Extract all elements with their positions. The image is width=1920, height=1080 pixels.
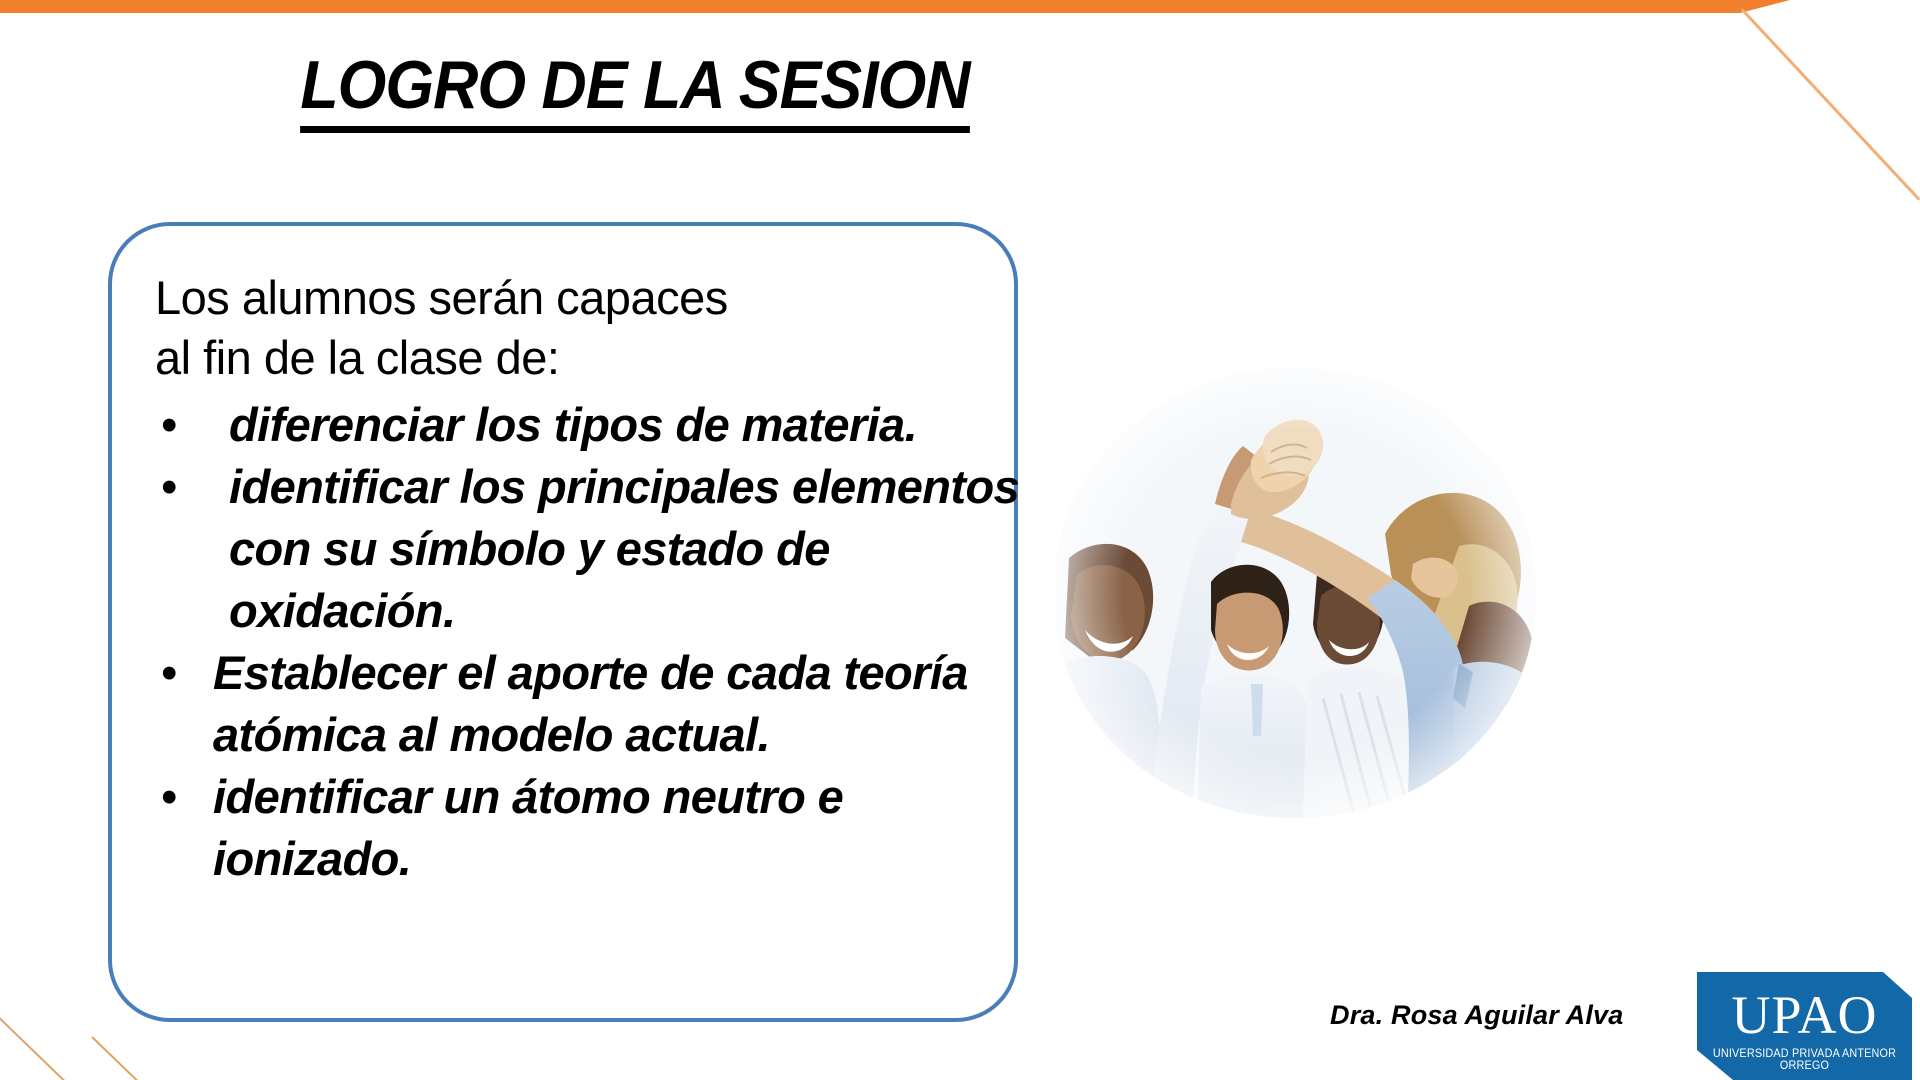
- upao-logo-subtitle: UNIVERSIDAD PRIVADA ANTENOR ORREGO: [1703, 1048, 1905, 1072]
- photo-illustration: [1055, 368, 1535, 818]
- bullet-icon: •: [161, 456, 177, 518]
- list-item-label: diferenciar los tipos de materia.: [213, 394, 917, 456]
- orange-diagonal-line-bottom-left-1: [0, 1008, 84, 1080]
- team-high-five-photo: [1055, 368, 1535, 818]
- bullet-icon: •: [161, 394, 177, 456]
- author-credit: Dra. Rosa Aguilar Alva: [1330, 1000, 1624, 1031]
- objectives-list: • diferenciar los tipos de materia. • id…: [155, 394, 1035, 890]
- bullet-icon: •: [161, 642, 177, 704]
- bullet-icon: •: [161, 766, 177, 828]
- slide-canvas: LOGRO DE LA SESION Los alumnos serán cap…: [0, 0, 1920, 1080]
- list-item-label: Establecer el aporte de cada teoría atóm…: [213, 646, 968, 761]
- objectives-lead-line-1: Los alumnos serán capaces: [155, 268, 1035, 328]
- slide-title: LOGRO DE LA SESION: [51, 46, 1219, 133]
- list-item: • identificar un átomo neutro e ionizado…: [155, 766, 1035, 890]
- orange-diagonal-line-top-right: [1741, 8, 1920, 200]
- orange-top-bar-decoration: [0, 0, 1790, 13]
- slide-title-text: LOGRO DE LA SESION: [300, 46, 969, 133]
- list-item: • diferenciar los tipos de materia.: [155, 394, 1035, 456]
- list-item: • identificar los principales elementos …: [155, 456, 1035, 642]
- list-item: • Establecer el aporte de cada teoría at…: [155, 642, 1035, 766]
- list-item-label: identificar los principales elementos co…: [213, 456, 1035, 642]
- upao-logo: UPAO UNIVERSIDAD PRIVADA ANTENOR ORREGO: [1697, 972, 1912, 1080]
- objectives-lead-line-2: al fin de la clase de:: [155, 328, 1035, 388]
- objectives-content: Los alumnos serán capaces al fin de la c…: [155, 268, 1035, 890]
- upao-logo-wordmark: UPAO: [1697, 988, 1912, 1042]
- list-item-label: identificar un átomo neutro e ionizado.: [213, 770, 843, 885]
- orange-diagonal-line-bottom-left-2: [91, 1036, 144, 1080]
